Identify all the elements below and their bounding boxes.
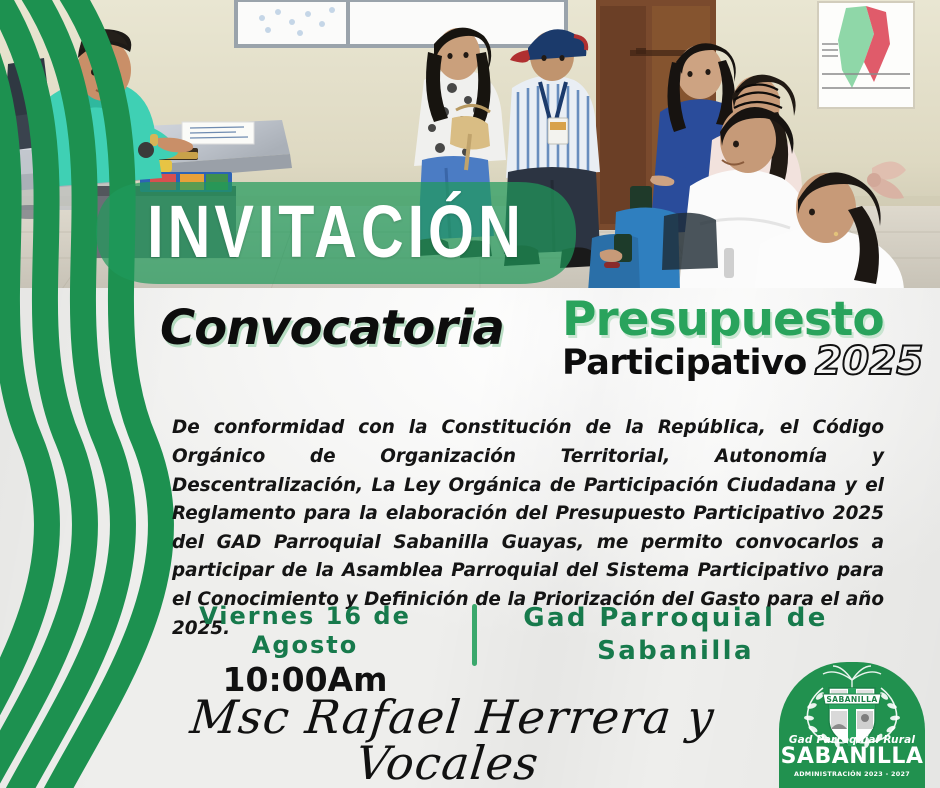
date-column: Viernes 16 de Agosto 10:00Am [150,602,460,699]
headline-convocatoria: Convocatoria [160,300,504,356]
logo-name: SABANILLA [779,746,925,768]
organization-column: Gad Parroquial de Sabanilla [501,602,890,668]
banner-title: INVITACIÓN [144,176,528,288]
event-details-row: Viernes 16 de Agosto 10:00Am Gad Parroqu… [150,602,890,680]
signature-line: Msc Rafael Herrera y Vocales [125,694,775,786]
date-line-2: Agosto [150,631,460,660]
headline-row: Convocatoria Presupuesto Participativo 2… [0,296,940,388]
invitation-banner: INVITACIÓN [96,176,576,288]
org-line-1: Gad Parroquial de [501,602,850,635]
date-line-1: Viernes 16 de [150,602,460,631]
svg-text:SABANILLA: SABANILLA [826,695,877,704]
headline-participativo: Participativo [562,346,807,381]
headline-year: 2025 [815,342,924,381]
invitation-poster: INVITACIÓN Convocatoria Presupuesto Part… [0,0,940,788]
logo-administration: ADMINISTRACIÓN 2023 - 2027 [779,770,925,778]
sabanilla-logo: SABANILLA Gad Parroquial Rural SABANILLA… [779,662,925,788]
headline-sub-row: Participativo 2025 [562,342,923,381]
vertical-divider [472,604,477,666]
org-line-2: Sabanilla [501,635,850,668]
